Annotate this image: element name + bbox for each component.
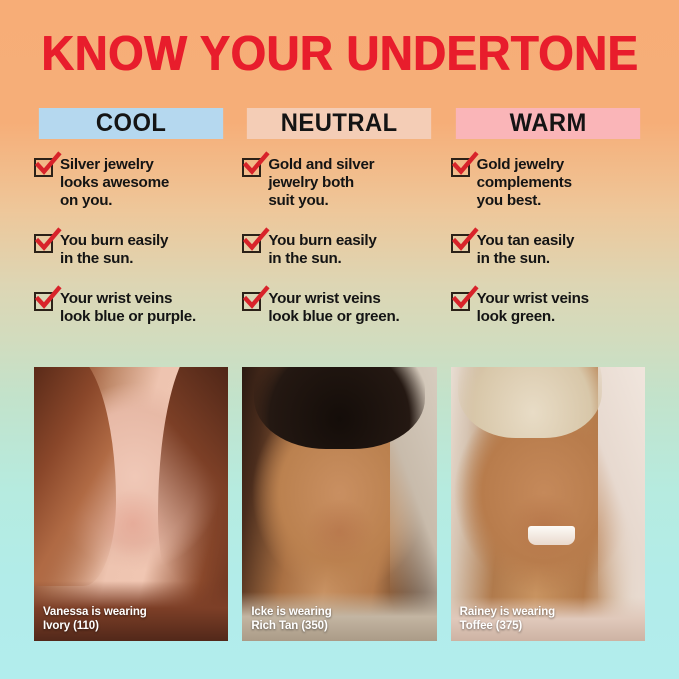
list-item: Your wrist veins look blue or purple. [34,290,228,326]
undertone-columns: COOL Silver jewelry looks awesome on you… [34,108,645,348]
list-item: You tan easily in the sun. [451,232,645,268]
photo-caption: Vanessa is wearing Ivory (110) [43,606,147,633]
checkbox-checked-icon[interactable] [451,158,470,177]
page-title: KNOW YOUR UNDERTONE [24,30,655,79]
list-item: You burn easily in the sun. [242,232,436,268]
model-face-image [34,367,228,641]
column-neutral: NEUTRAL Gold and silver jewelry both sui… [242,108,436,348]
checkbox-checked-icon[interactable] [451,292,470,311]
list-item: Your wrist veins look green. [451,290,645,326]
model-photo-row: Vanessa is wearing Ivory (110) Icke is w… [34,367,645,641]
column-cool: COOL Silver jewelry looks awesome on you… [34,108,228,348]
infographic-root: KNOW YOUR UNDERTONE COOL Silver jewelry … [0,0,679,679]
list-item: Silver jewelry looks awesome on you. [34,156,228,210]
list-item-label: Gold and silver jewelry both suit you. [268,156,374,210]
photo-caption: Icke is wearing Rich Tan (350) [251,606,331,633]
list-item-label: Your wrist veins look blue or purple. [60,290,196,326]
cheek-highlight [305,499,375,565]
model-face-image [451,367,645,641]
checkbox-checked-icon[interactable] [34,158,53,177]
checklist-neutral: Gold and silver jewelry both suit you. Y… [242,156,436,326]
list-item-label: Silver jewelry looks awesome on you. [60,156,169,210]
hair-shape [458,367,602,438]
smile-highlight [528,526,575,545]
model-photo-icke: Icke is wearing Rich Tan (350) [242,367,436,641]
hair-shape [254,367,425,449]
model-face-image [242,367,436,641]
list-item: Gold and silver jewelry both suit you. [242,156,436,210]
list-item-label: Your wrist veins look green. [477,290,589,326]
list-item-label: Your wrist veins look blue or green. [268,290,399,326]
checklist-warm: Gold jewelry complements you best. You t… [451,156,645,326]
column-header-neutral: NEUTRAL [247,108,432,139]
model-photo-vanessa: Vanessa is wearing Ivory (110) [34,367,228,641]
list-item-label: You tan easily in the sun. [477,232,575,268]
column-header-cool: COOL [39,108,224,139]
checkbox-checked-icon[interactable] [242,234,261,253]
list-item: Gold jewelry complements you best. [451,156,645,210]
column-header-warm: WARM [456,108,641,139]
column-warm: WARM Gold jewelry complements you best. … [451,108,645,348]
checkbox-checked-icon[interactable] [34,292,53,311]
checkbox-checked-icon[interactable] [34,234,53,253]
checkbox-checked-icon[interactable] [242,158,261,177]
list-item-label: You burn easily in the sun. [60,232,168,268]
photo-caption: Rainey is wearing Toffee (375) [460,606,555,633]
list-item-label: You burn easily in the sun. [268,232,376,268]
list-item: Your wrist veins look blue or green. [242,290,436,326]
list-item: You burn easily in the sun. [34,232,228,268]
list-item-label: Gold jewelry complements you best. [477,156,572,210]
cheek-highlight [100,488,166,559]
checkbox-checked-icon[interactable] [242,292,261,311]
checkbox-checked-icon[interactable] [451,234,470,253]
checklist-cool: Silver jewelry looks awesome on you. You… [34,156,228,326]
model-photo-rainey: Rainey is wearing Toffee (375) [451,367,645,641]
hair-highlight-right [158,367,228,614]
